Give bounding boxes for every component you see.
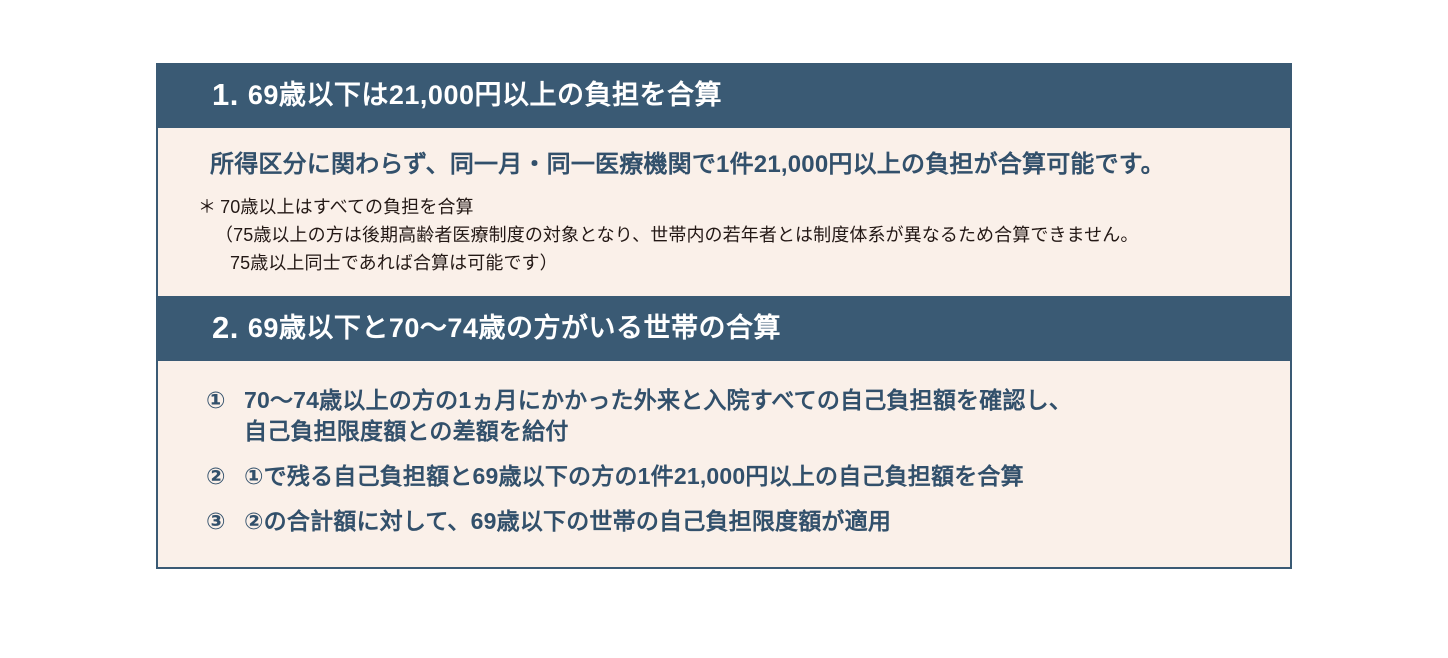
step-text-2: ①で残る自己負担額と69歳以下の方の1件21,000円以上の自己負担額を合算 <box>244 461 1024 492</box>
section-2: 2. 69歳以下と70〜74歳の方がいる世帯の合算 ① 70〜74歳以上の方の1… <box>156 296 1292 569</box>
note-line-2: （75歳以上の方は後期高齢者医療制度の対象となり、世帯内の若年者とは制度体系が異… <box>198 222 1290 250</box>
section-2-header: 2. 69歳以下と70〜74歳の方がいる世帯の合算 <box>156 296 1292 361</box>
step-marker-1: ① <box>206 385 244 416</box>
step-text-2-line-1: ①で残る自己負担額と69歳以下の方の1件21,000円以上の自己負担額を合算 <box>244 463 1024 489</box>
section-2-body: ① 70〜74歳以上の方の1ヵ月にかかった外来と入院すべての自己負担額を確認し、… <box>156 361 1292 569</box>
note-line-1: ＊70歳以上はすべての負担を合算 <box>198 194 1290 222</box>
section-1-header: 1. 69歳以下は21,000円以上の負担を合算 <box>156 63 1292 128</box>
infographic-page: 1. 69歳以下は21,000円以上の負担を合算 所得区分に関わらず、同一月・同… <box>0 0 1448 658</box>
step-text-1-line-1: 70〜74歳以上の方の1ヵ月にかかった外来と入院すべての自己負担額を確認し、 <box>244 387 1072 413</box>
step-item: ③ ②の合計額に対して、69歳以下の世帯の自己負担限度額が適用 <box>206 506 1290 537</box>
section-1-number: 1. <box>212 79 239 110</box>
step-list: ① 70〜74歳以上の方の1ヵ月にかかった外来と入院すべての自己負担額を確認し、… <box>158 361 1290 567</box>
step-marker-2: ② <box>206 461 244 492</box>
section-1-lead-text: 所得区分に関わらず、同一月・同一医療機関で1件21,000円以上の負担が合算可能… <box>158 128 1290 180</box>
section-1-title: 69歳以下は21,000円以上の負担を合算 <box>248 82 722 109</box>
info-card: 1. 69歳以下は21,000円以上の負担を合算 所得区分に関わらず、同一月・同… <box>156 63 1292 569</box>
note-line-3: 75歳以上同士であれば合算は可能です） <box>198 250 1290 278</box>
section-2-number: 2. <box>212 312 239 343</box>
note-line-1-text: 70歳以上はすべての負担を合算 <box>220 197 474 217</box>
step-text-1-line-2: 自己負担限度額との差額を給付 <box>244 416 1072 447</box>
section-1: 1. 69歳以下は21,000円以上の負担を合算 所得区分に関わらず、同一月・同… <box>156 63 1292 296</box>
step-text-1: 70〜74歳以上の方の1ヵ月にかかった外来と入院すべての自己負担額を確認し、 自… <box>244 385 1072 447</box>
step-text-3: ②の合計額に対して、69歳以下の世帯の自己負担限度額が適用 <box>244 506 891 537</box>
step-text-3-line-1: ②の合計額に対して、69歳以下の世帯の自己負担限度額が適用 <box>244 508 891 534</box>
asterisk-icon: ＊ <box>198 197 216 217</box>
section-1-body: 所得区分に関わらず、同一月・同一医療機関で1件21,000円以上の負担が合算可能… <box>156 128 1292 296</box>
section-2-title: 69歳以下と70〜74歳の方がいる世帯の合算 <box>248 315 781 342</box>
step-item: ① 70〜74歳以上の方の1ヵ月にかかった外来と入院すべての自己負担額を確認し、… <box>206 385 1290 447</box>
step-item: ② ①で残る自己負担額と69歳以下の方の1件21,000円以上の自己負担額を合算 <box>206 461 1290 492</box>
step-marker-3: ③ <box>206 506 244 537</box>
section-1-note: ＊70歳以上はすべての負担を合算 （75歳以上の方は後期高齢者医療制度の対象とな… <box>158 180 1290 296</box>
